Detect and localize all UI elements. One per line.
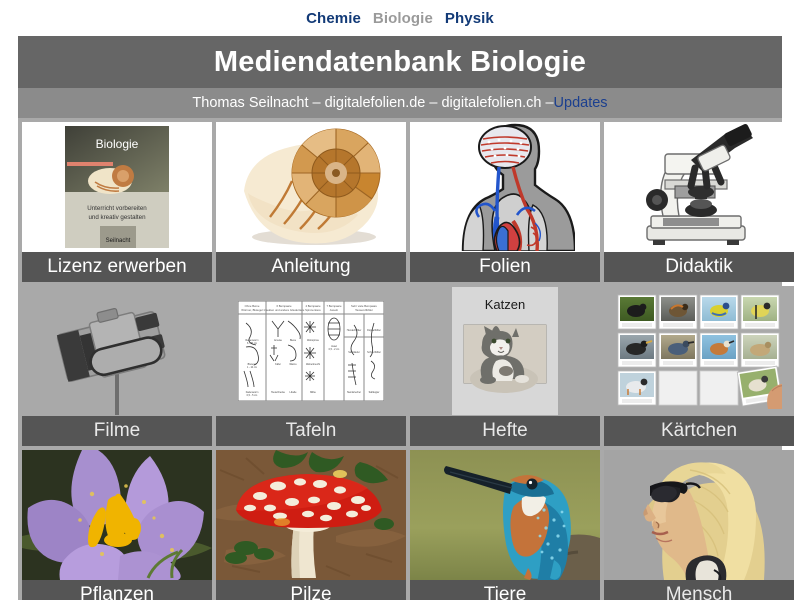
updates-link[interactable]: Updates xyxy=(554,95,608,111)
svg-text:Asseln: Asseln xyxy=(330,308,339,312)
tile-label: Pilze xyxy=(216,580,406,600)
svg-text:Würmer, Blutegel: Würmer, Blutegel xyxy=(241,308,263,312)
nav-link-chemie[interactable]: Chemie xyxy=(306,10,361,27)
svg-text:Katzen: Katzen xyxy=(485,297,525,312)
svg-text:Insekten und andere Gliedertie: Insekten und andere Gliedertiere xyxy=(264,308,305,312)
tile-folien[interactable]: Folien xyxy=(410,122,600,282)
tile-tafeln[interactable]: Ohne BeineWürmer, Blutegel 6 BeinpaareIn… xyxy=(216,286,406,446)
tile-hefte[interactable]: Katzen xyxy=(410,286,600,446)
svg-text:Libelle: Libelle xyxy=(290,391,298,394)
woman-profile-icon xyxy=(604,450,794,580)
author-credit: Thomas Seilnacht – digitalefolien.de – d… xyxy=(192,95,553,111)
svg-text:Doppelfüßler: Doppelfüßler xyxy=(367,329,381,332)
svg-text:Biene: Biene xyxy=(290,339,297,342)
svg-text:Weberknecht: Weberknecht xyxy=(306,363,320,366)
svg-text:Webspinne: Webspinne xyxy=(307,339,320,342)
masthead: Mediendatenbank Biologie xyxy=(18,36,782,88)
tile-label: Mensch xyxy=(604,580,794,600)
tile-label: Tafeln xyxy=(216,416,406,446)
svg-text:und kreativ gestalten: und kreativ gestalten xyxy=(88,214,146,221)
svg-text:Hundertfüßler: Hundertfüßler xyxy=(347,329,362,332)
tile-label: Lizenz erwerben xyxy=(22,252,212,282)
svg-text:0,5 - 5 cm: 0,5 - 5 cm xyxy=(247,394,258,397)
page-title: Mediendatenbank Biologie xyxy=(214,46,586,79)
top-navigation: Chemie Biologie Physik xyxy=(0,0,800,36)
svg-text:Milbe: Milbe xyxy=(310,391,316,394)
video-camera-icon xyxy=(22,286,212,416)
svg-text:Tausendfüßler: Tausendfüßler xyxy=(355,308,373,312)
svg-text:Wanze: Wanze xyxy=(289,363,297,366)
page-container: Mediendatenbank Biologie Thomas Seilnach… xyxy=(18,36,782,600)
tile-filme[interactable]: Filme xyxy=(22,286,212,446)
tile-tiere[interactable]: Tiere xyxy=(410,450,600,600)
nav-link-physik[interactable]: Physik xyxy=(445,10,494,27)
tile-anleitung[interactable]: Anleitung xyxy=(216,122,406,282)
tile-label: Filme xyxy=(22,416,212,446)
svg-text:Biologie: Biologie xyxy=(96,137,139,151)
tile-label: Pflanzen xyxy=(22,580,212,600)
book-cover-icon: Biologie Unterricht vorbereiten und krea… xyxy=(22,122,212,252)
svg-text:Schnurfüßler: Schnurfüßler xyxy=(367,351,381,354)
tile-pilze[interactable]: Pilze xyxy=(216,450,406,600)
tile-label: Anleitung xyxy=(216,252,406,282)
svg-text:Saftkugler: Saftkugler xyxy=(369,391,380,394)
tile-didaktik[interactable]: Didaktik xyxy=(604,122,794,282)
tile-label: Kärtchen xyxy=(604,416,794,446)
human-circulatory-system-icon xyxy=(410,122,600,252)
tile-mensch[interactable]: Mensch xyxy=(604,450,794,600)
tile-label: Folien xyxy=(410,252,600,282)
subtitle-bar: Thomas Seilnacht – digitalefolien.de – d… xyxy=(18,88,782,118)
svg-text:Steinläufer: Steinläufer xyxy=(348,351,360,354)
media-tile-grid: Biologie Unterricht vorbereiten und krea… xyxy=(18,118,782,600)
svg-text:Käfer: Käfer xyxy=(275,363,281,366)
tile-lizenz-erwerben[interactable]: Biologie Unterricht vorbereiten und krea… xyxy=(22,122,212,282)
identification-chart-icon: Ohne BeineWürmer, Blutegel 6 BeinpaareIn… xyxy=(216,286,406,416)
tile-pflanzen[interactable]: Pflanzen xyxy=(22,450,212,600)
svg-text:0,5 - 2 cm: 0,5 - 2 cm xyxy=(329,348,340,351)
tile-label: Didaktik xyxy=(604,252,794,282)
nautilus-shell-icon xyxy=(216,122,406,252)
microscope-icon xyxy=(604,122,794,252)
bird-cards-grid-icon xyxy=(604,286,794,416)
svg-text:Ameise: Ameise xyxy=(274,339,283,342)
nav-link-biologie[interactable]: Biologie xyxy=(373,10,433,27)
kingfisher-bird-icon xyxy=(410,450,600,580)
svg-text:Spinnentiere: Spinnentiere xyxy=(305,308,321,312)
tile-label: Tiere xyxy=(410,580,600,600)
svg-text:Seilnacht: Seilnacht xyxy=(106,238,131,244)
tile-label: Hefte xyxy=(410,416,600,446)
booklet-cover-icon: Katzen xyxy=(410,286,600,416)
fly-agaric-mushroom-icon xyxy=(216,450,406,580)
crocus-flower-icon xyxy=(22,450,212,580)
svg-text:Steinkriecher: Steinkriecher xyxy=(347,391,361,394)
svg-text:1 - 10 cm: 1 - 10 cm xyxy=(247,366,257,369)
svg-text:Heuschrecke: Heuschrecke xyxy=(271,391,286,394)
svg-text:6 - 30 cm: 6 - 30 cm xyxy=(247,342,257,345)
svg-text:Unterricht vorbereiten: Unterricht vorbereiten xyxy=(87,205,147,212)
tile-kaertchen[interactable]: Kärtchen xyxy=(604,286,794,446)
